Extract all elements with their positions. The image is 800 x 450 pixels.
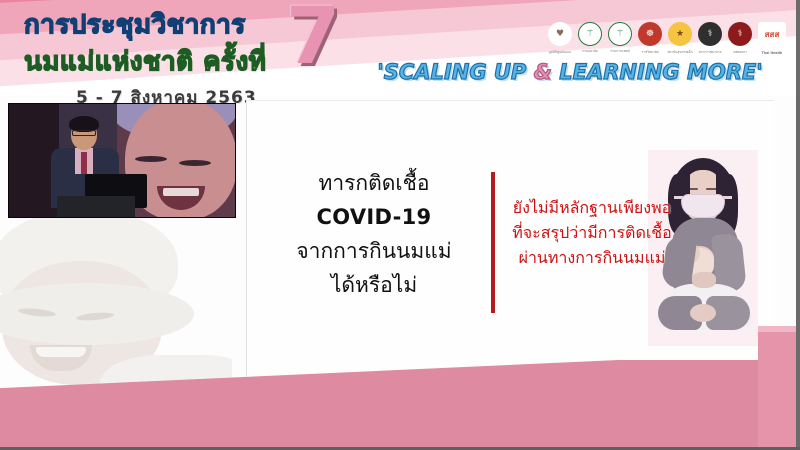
question-line-3: จากการกินนมแม่ — [262, 234, 486, 268]
medical-council-logo: ⚕แพทยสภา — [728, 22, 752, 46]
logo-mark: ★ — [676, 29, 684, 39]
logo-caption: สถาบันสุขภาพเด็ก — [667, 50, 692, 55]
tagline-part2: LEARNING MORE' — [552, 60, 763, 84]
footer-swoosh-dark — [0, 360, 800, 450]
conference-title-line2: นมแม่แห่งชาติ ครั้งที่ — [24, 41, 266, 82]
answer-line-3: ผ่านทางการกินนมแม่ — [497, 246, 687, 271]
royal-college-pediatricians-logo: ☸ราชวิทยาลัย — [638, 22, 662, 46]
conference-title-block: การประชุมวิชาการ นมแม่แห่งชาติ ครั้งที่ … — [24, 4, 266, 111]
illustration-hand — [692, 272, 716, 288]
tagline-ampersand: & — [534, 60, 552, 84]
vertical-red-divider — [491, 172, 495, 313]
royal-thai-emblem-logo: ★สถาบันสุขภาพเด็ก — [668, 22, 692, 46]
speaker-glasses-icon — [72, 130, 96, 136]
sponsor-logos-row: ♥มูลนิธิศูนย์นมแม่ ⚚กรมอนามัย ⚚กรมการแพท… — [548, 22, 786, 46]
logo-mark: ⚕ — [738, 29, 743, 39]
logo-mark: ☸ — [646, 29, 654, 39]
tagline-part1: 'SCALING UP — [377, 60, 533, 84]
conference-tagline: 'SCALING UP & LEARNING MORE' — [360, 60, 780, 84]
footer-decoration-band — [0, 360, 800, 450]
logo-mark: สสส — [765, 28, 780, 41]
face-mask-icon — [681, 194, 725, 218]
logo-mark: ⚚ — [586, 29, 594, 39]
projected-baby-teeth — [163, 188, 199, 196]
logo-mark: ⚕ — [708, 29, 713, 39]
slide-border-right — [796, 0, 800, 450]
thaihealth-sso-logo: สสสThai Health — [758, 22, 786, 46]
right-pink-strip — [758, 332, 800, 450]
logo-caption: Thai Health — [762, 51, 783, 55]
breastfeeding-foundation-logo: ♥มูลนิธิศูนย์นมแม่ — [548, 22, 572, 46]
logo-caption: สภาการพยาบาล — [699, 50, 722, 55]
logo-caption: กรมอนามัย — [582, 49, 598, 54]
question-line-2: COVID-19 — [262, 200, 486, 234]
nurses-council-logo: ⚕สภาการพยาบาล — [698, 22, 722, 46]
projected-baby-eye-right — [179, 160, 211, 166]
question-line-4: ได้หรือไม่ — [262, 268, 486, 302]
speaker-video-thumbnail[interactable] — [8, 103, 236, 218]
ministry-public-health-logo: ⚚กรมอนามัย — [578, 22, 602, 46]
illustration-foot — [690, 304, 716, 322]
podium — [57, 196, 135, 218]
answer-block: ยังไม่มีหลักฐานเพียงพอ ที่จะสรุปว่ามีการ… — [497, 196, 687, 270]
logo-mark: ♥ — [556, 29, 564, 39]
department-health-logo: ⚚กรมการแพทย์ — [608, 22, 632, 46]
logo-mark: ⚚ — [616, 29, 624, 39]
slide-canvas: การประชุมวิชาการ นมแม่แห่งชาติ ครั้งที่ … — [0, 0, 800, 450]
edition-number: 7 — [286, 0, 340, 76]
logo-caption: ราชวิทยาลัย — [641, 50, 658, 55]
watermark-teeth — [36, 347, 86, 357]
question-block: ทารกติดเชื้อ COVID-19 จากการกินนมแม่ ได้… — [262, 166, 486, 302]
answer-line-2: ที่จะสรุปว่ามีการติดเชื้อ — [497, 221, 687, 246]
question-line-1: ทารกติดเชื้อ — [262, 166, 486, 200]
logo-caption: กรมการแพทย์ — [610, 49, 629, 54]
answer-line-1: ยังไม่มีหลักฐานเพียงพอ — [497, 196, 687, 221]
logo-caption: มูลนิธิศูนย์นมแม่ — [549, 50, 572, 55]
projected-baby-eye-left — [135, 156, 167, 162]
conference-title-line1: การประชุมวิชาการ — [24, 4, 266, 45]
speaker-tie — [81, 152, 87, 174]
logo-caption: แพทยสภา — [733, 50, 747, 55]
